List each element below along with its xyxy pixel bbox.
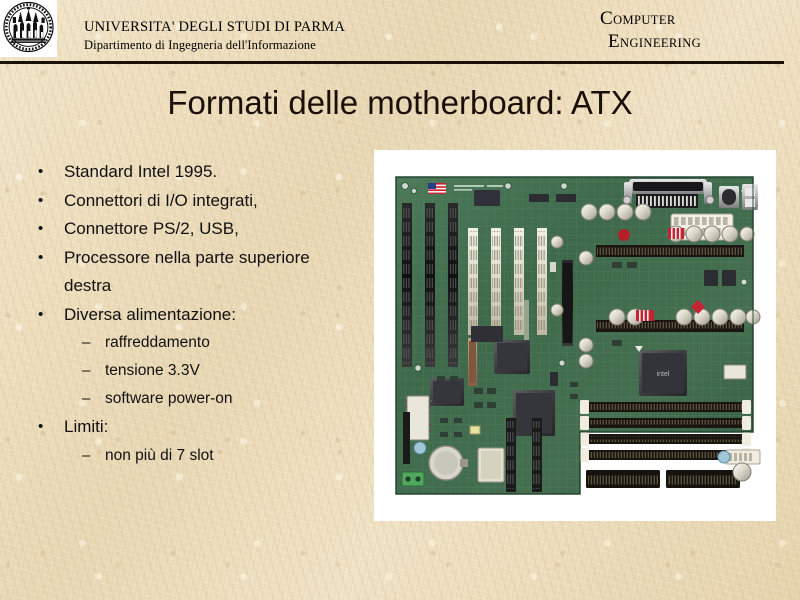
- brand-line-engineering: ENGINEERING: [608, 32, 701, 51]
- sub-bullet-marker: –: [82, 357, 105, 385]
- slide-title: Formati delle motherboard: ATX: [0, 84, 800, 122]
- svg-text:intel: intel: [657, 371, 670, 378]
- transformer-block: [478, 448, 504, 482]
- bullet-text: Standard Intel 1995.: [64, 158, 358, 187]
- bullet-text: tensione 3.3V: [105, 357, 358, 385]
- brand-rest-engineering: NGINEERING: [620, 36, 701, 50]
- brand-line-computer: COMPUTER: [600, 9, 701, 28]
- brand-cap-e: E: [608, 31, 620, 52]
- bullet-item: •Connettori di I/O integrati,: [38, 187, 358, 216]
- sub-bullet-item: –tensione 3.3V: [82, 357, 358, 385]
- bullet-text: Processore nella parte superiore destra: [64, 244, 358, 301]
- bullet-marker: •: [38, 301, 64, 330]
- chipset-north-bridge: intel: [635, 346, 687, 396]
- department-name: Dipartimento di Ingegneria dell'Informaz…: [84, 38, 316, 53]
- bullet-item: •Standard Intel 1995.: [38, 158, 358, 187]
- bullet-item: •Connettore PS/2, USB,: [38, 215, 358, 244]
- usb-connectors: [742, 184, 758, 210]
- amr-slot: [468, 338, 477, 386]
- bullet-text: raffreddamento: [105, 329, 358, 357]
- header-divider-rule: [0, 61, 784, 64]
- bullet-marker: •: [38, 215, 64, 244]
- bullet-text: Connettori di I/O integrati,: [64, 187, 358, 216]
- electrolytic-capacitors-middle: [609, 309, 760, 325]
- bullet-marker: •: [38, 413, 64, 442]
- terminal-block: [402, 472, 424, 486]
- sub-bullet-item: –software power-on: [82, 385, 358, 413]
- bullet-marker: •: [38, 187, 64, 216]
- isa-slots: [402, 203, 458, 367]
- sub-bullet-marker: –: [82, 329, 105, 357]
- bullet-marker: •: [38, 244, 64, 273]
- bullet-text: software power-on: [105, 385, 358, 413]
- agp-slot: [562, 260, 573, 346]
- motherboard-image: intel: [374, 150, 776, 521]
- us-flag-sticker: [428, 183, 446, 194]
- university-name: UNIVERSITA' DEGLI STUDI DI PARMA: [84, 19, 345, 36]
- bullet-text: Diversa alimentazione:: [64, 301, 358, 330]
- brand-rest-computer: OMPUTER: [613, 13, 676, 27]
- bullet-list: •Standard Intel 1995.•Connettori di I/O …: [38, 158, 358, 470]
- university-seal-icon: [0, 0, 57, 57]
- sub-bullet-item: –non più di 7 slot: [82, 442, 358, 470]
- computer-engineering-brand: COMPUTER ENGINEERING: [600, 9, 701, 51]
- bullet-item: •Limiti:: [38, 413, 358, 442]
- atx-motherboard-photo: intel: [374, 150, 776, 521]
- ps2-connectors: [719, 186, 739, 208]
- bullet-item: •Diversa alimentazione:: [38, 301, 358, 330]
- slide-header: UNIVERSITA' DEGLI STUDI DI PARMA Diparti…: [0, 0, 800, 66]
- bullet-item: •Processore nella parte superiore destra: [38, 244, 358, 301]
- sub-bullet-item: –raffreddamento: [82, 329, 358, 357]
- bullet-text: Limiti:: [64, 413, 358, 442]
- sub-bullet-marker: –: [82, 442, 105, 470]
- bullet-text: non più di 7 slot: [105, 442, 358, 470]
- sub-bullet-marker: –: [82, 385, 105, 413]
- slide-root: UNIVERSITA' DEGLI STUDI DI PARMA Diparti…: [0, 0, 800, 600]
- bullet-marker: •: [38, 158, 64, 187]
- brand-cap-c: C: [600, 8, 613, 29]
- university-seal-logo: [0, 0, 57, 57]
- bullet-text: Connettore PS/2, USB,: [64, 215, 358, 244]
